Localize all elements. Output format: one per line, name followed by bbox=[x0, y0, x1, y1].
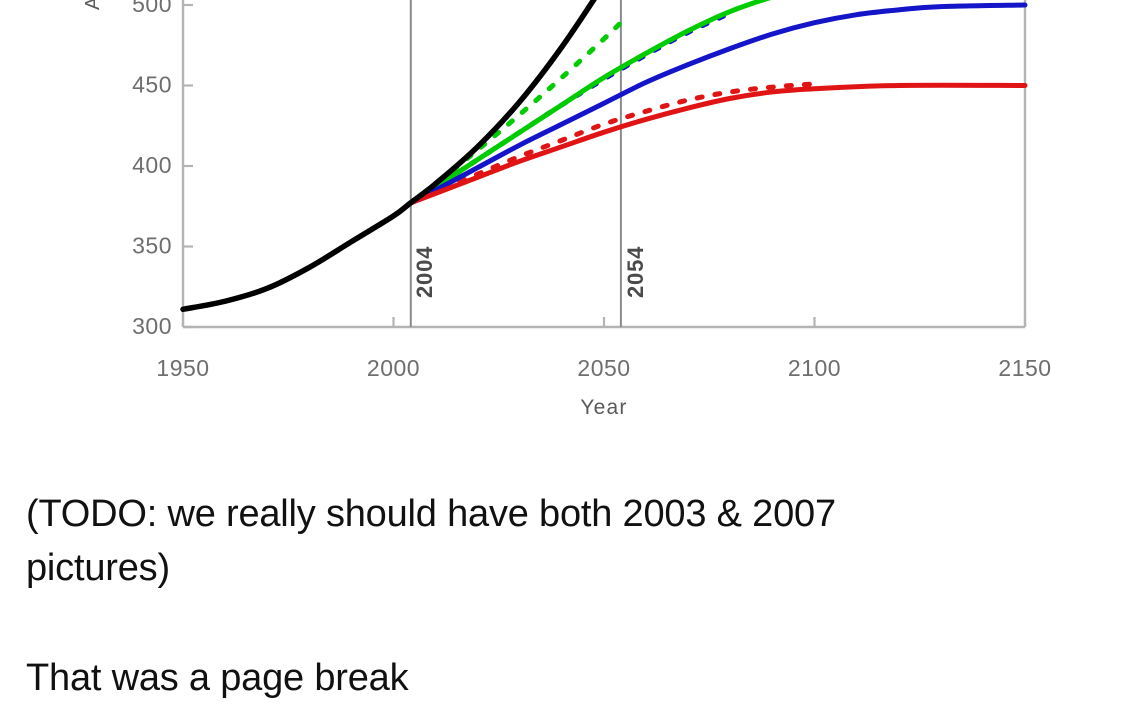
paragraph-todo-note: (TODO: we really should have both 2003 &… bbox=[26, 488, 1126, 596]
x-tick-label-2050: 2050 bbox=[577, 355, 630, 381]
document-text-body: (TODO: we really should have both 2003 &… bbox=[0, 440, 1146, 716]
reference-label-2054: 2054 bbox=[623, 246, 648, 298]
y-axis-title: Atmospheric CO₂ co bbox=[82, 0, 104, 10]
paragraph-page-break-note: That was a page break bbox=[26, 652, 1126, 706]
x-tick-label-2100: 2100 bbox=[788, 355, 841, 381]
y-tick-label-400: 400 bbox=[132, 152, 172, 178]
co2-stabilization-chart: 300 350 400 450 500 1950 2000 2050 2100 … bbox=[0, 0, 1146, 440]
x-tick-label-1950: 1950 bbox=[156, 355, 209, 381]
co2-figure: 300 350 400 450 500 1950 2000 2050 2100 … bbox=[0, 0, 1146, 440]
y-tick-label-300: 300 bbox=[132, 313, 172, 339]
x-tick-label-2000: 2000 bbox=[367, 355, 420, 381]
reference-label-2004: 2004 bbox=[412, 246, 437, 298]
y-tick-label-500: 500 bbox=[132, 0, 172, 17]
plot-background bbox=[183, 0, 1025, 327]
y-tick-label-450: 450 bbox=[132, 72, 172, 98]
x-tick-label-2150: 2150 bbox=[998, 355, 1051, 381]
x-axis-title: Year bbox=[580, 396, 627, 419]
y-tick-label-350: 350 bbox=[132, 233, 172, 259]
